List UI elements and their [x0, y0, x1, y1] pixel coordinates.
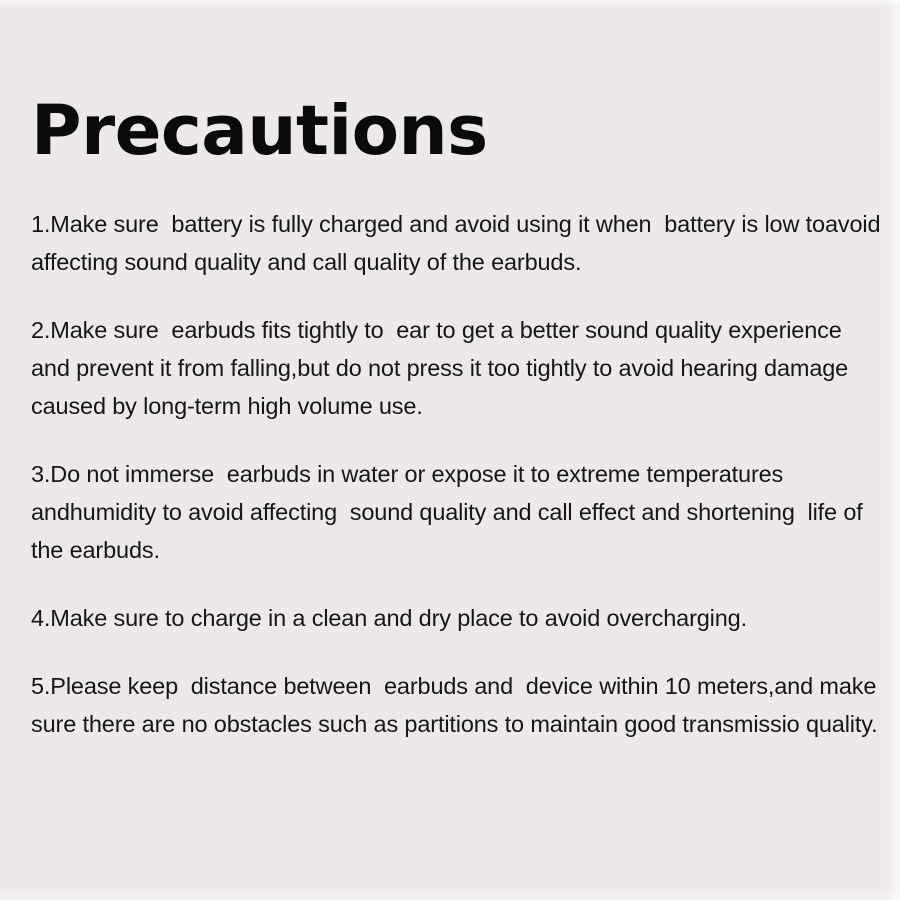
- precaution-item-4: 4.Make sure to charge in a clean and dry…: [31, 599, 883, 637]
- precautions-page: Precautions 1.Make sure battery is fully…: [0, 0, 900, 900]
- precaution-item-2: 2.Make sure earbuds fits tightly to ear …: [31, 311, 883, 425]
- precaution-list: 1.Make sure battery is fully charged and…: [31, 205, 883, 743]
- precaution-item-3: 3.Do not immerse earbuds in water or exp…: [31, 455, 883, 569]
- precaution-item-5: 5.Please keep distance between earbuds a…: [31, 667, 883, 743]
- precaution-item-1: 1.Make sure battery is fully charged and…: [31, 205, 883, 281]
- page-title: Precautions: [31, 94, 488, 168]
